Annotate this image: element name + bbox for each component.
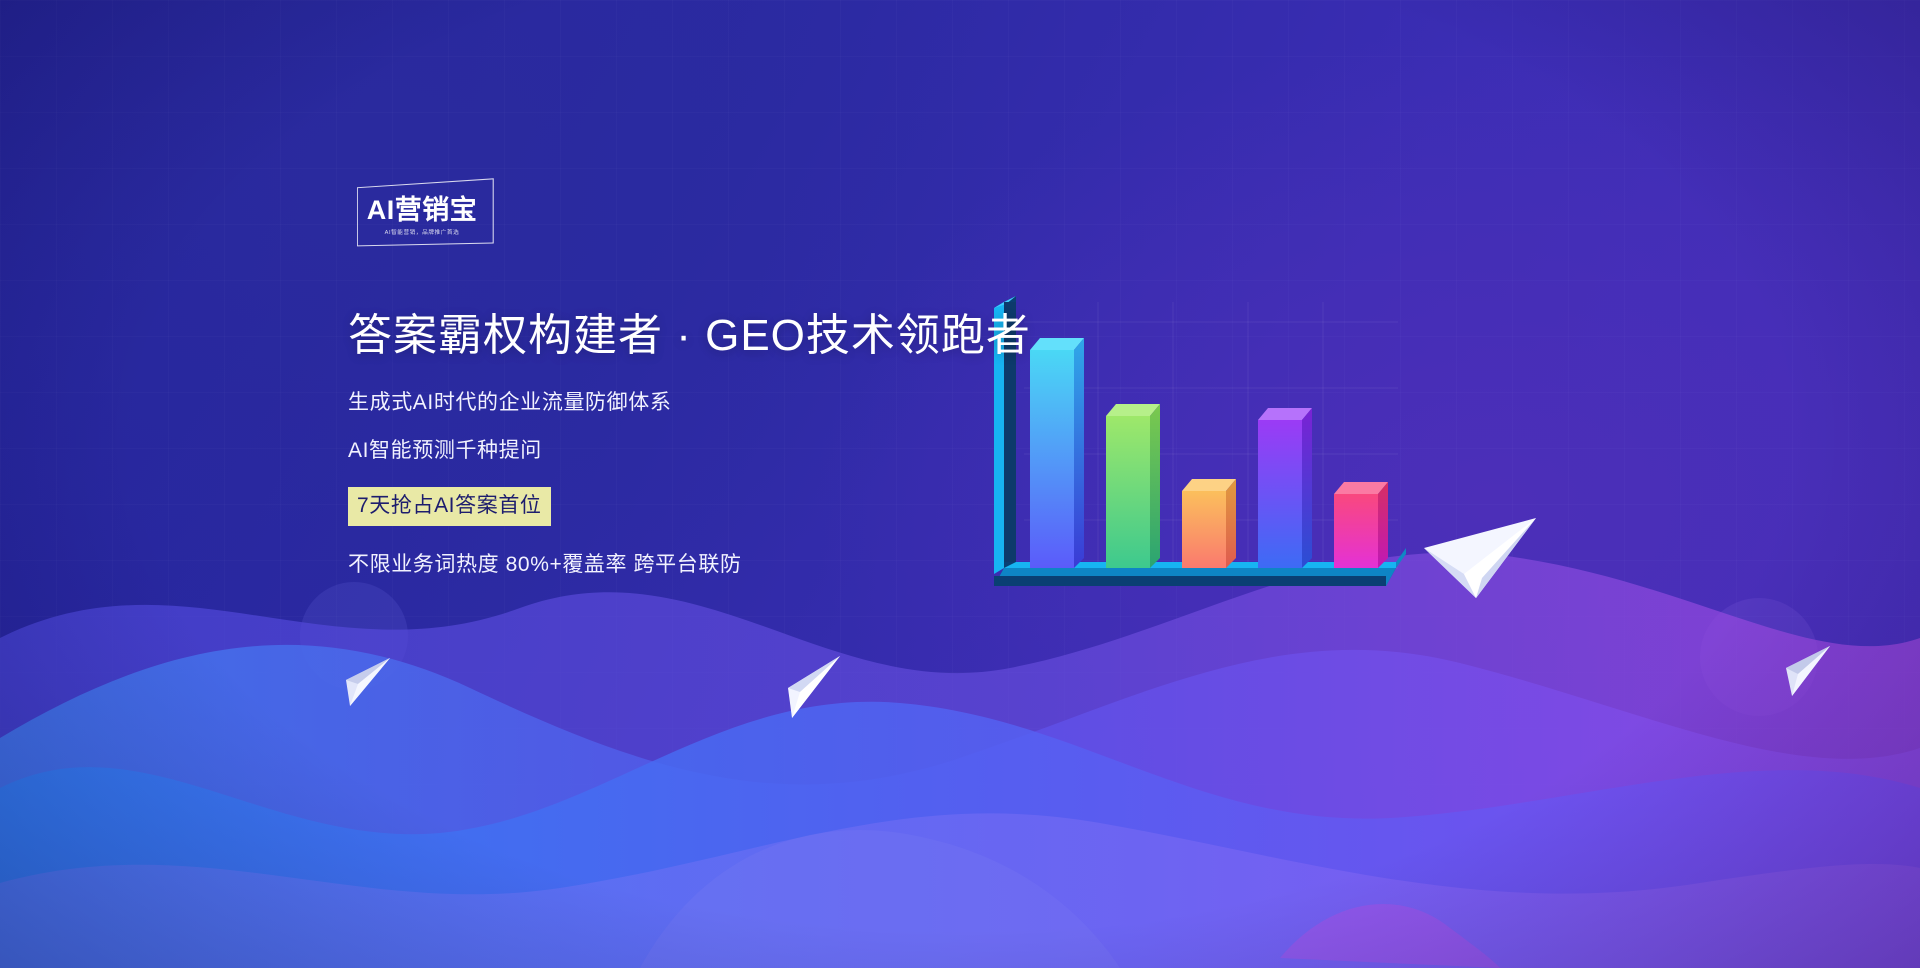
- bar-chart-3d: [978, 296, 1448, 666]
- paper-plane-icon-right: [1778, 642, 1836, 700]
- paper-plane-icon-mid: [774, 652, 846, 724]
- hero-subtitle-3: 不限业务词热度 80%+覆盖率 跨平台联防: [348, 554, 1028, 575]
- page-title: 答案霸权构建者 · GEO技术领跑者: [348, 310, 1028, 362]
- bar-1: [1030, 338, 1084, 568]
- hero-subtitle-2: AI智能预测千种提问: [348, 440, 1028, 461]
- logo-tagline: AI智能营销，品牌推广首选: [356, 227, 488, 235]
- hero-highlight-wrap: 7天抢占AI答案首位: [348, 487, 1028, 526]
- hero-subtitle-1: 生成式AI时代的企业流量防御体系: [348, 392, 1028, 413]
- logo-text: AI营销宝: [352, 197, 492, 224]
- brand-logo[interactable]: AI营销宝 AI智能营销，品牌推广首选: [352, 183, 492, 245]
- bar-2: [1106, 404, 1160, 568]
- paper-plane-icon-large: [1420, 512, 1540, 612]
- paper-plane-icon-left: [338, 654, 396, 710]
- bar-4: [1258, 408, 1312, 568]
- bar-3: [1182, 479, 1236, 568]
- hero-highlight-badge: 7天抢占AI答案首位: [348, 487, 551, 526]
- hero-banner: AI营销宝 AI智能营销，品牌推广首选 答案霸权构建者 · GEO技术领跑者 生…: [0, 0, 1920, 968]
- hero-copy: 答案霸权构建者 · GEO技术领跑者 生成式AI时代的企业流量防御体系 AI智能…: [348, 310, 1028, 575]
- bar-5: [1334, 482, 1388, 568]
